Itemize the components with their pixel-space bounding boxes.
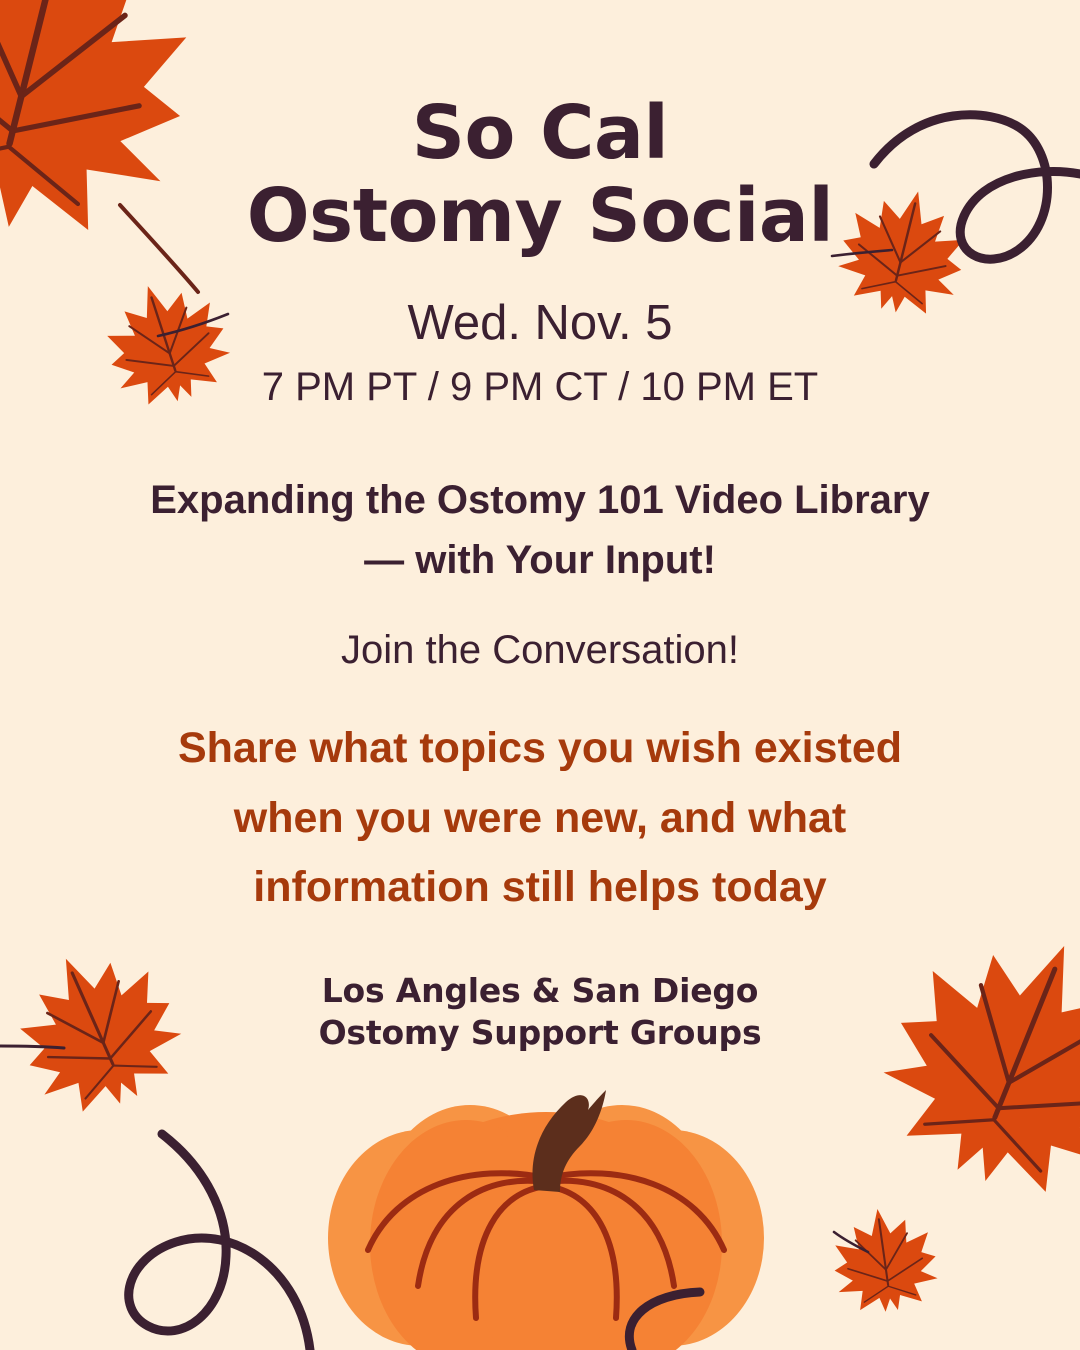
host-groups-line-2: Ostomy Support Groups [0,1012,1080,1054]
host-groups: Los Angles & San Diego Ostomy Support Gr… [0,970,1080,1054]
event-headline: Expanding the Ostomy 101 Video Library —… [60,470,1020,590]
host-groups-line-1: Los Angles & San Diego [0,970,1080,1012]
event-subhead: Join the Conversation! [0,626,1080,674]
prompt-line-2: when you were new, and what [55,784,1025,854]
event-times: 7 PM PT / 9 PM CT / 10 PM ET [0,364,1080,410]
page-title: So Cal Ostomy Social [0,92,1080,258]
prompt-line-1: Share what topics you wish existed [55,714,1025,784]
title-line-1: So Cal [0,92,1080,175]
poster-canvas: So Cal Ostomy Social Wed. Nov. 5 7 PM PT… [0,0,1080,1350]
discussion-prompt: Share what topics you wish existed when … [55,714,1025,923]
poster-content: So Cal Ostomy Social Wed. Nov. 5 7 PM PT… [0,0,1080,1350]
headline-line-1: Expanding the Ostomy 101 Video Library [60,470,1020,530]
prompt-line-3: information still helps today [55,853,1025,923]
title-line-2: Ostomy Social [0,175,1080,258]
headline-line-2: — with Your Input! [60,530,1020,590]
event-date: Wed. Nov. 5 [0,296,1080,351]
